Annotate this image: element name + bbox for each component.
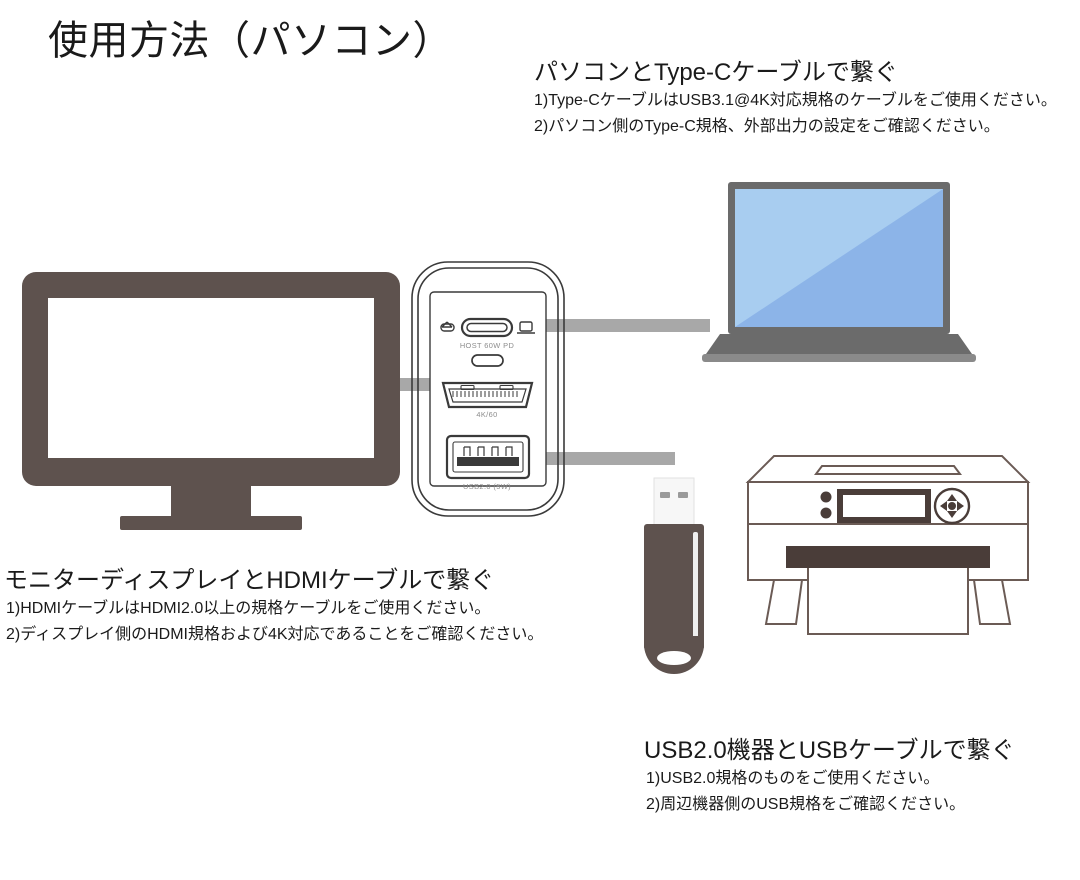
instruction-line-usb-1: 1)USB2.0規格のものをご使用ください。 [644, 766, 1015, 792]
laptop-illustration [700, 178, 1018, 370]
instruction-block-hdmi: モニターディスプレイとHDMIケーブルで繋ぐ 1)HDMIケーブルはHDMI2.… [4, 566, 543, 649]
instruction-line-hdmi-1: 1)HDMIケーブルはHDMI2.0以上の規格ケーブルをご使用ください。 [4, 596, 543, 622]
instruction-block-usb: USB2.0機器とUSBケーブルで繋ぐ 1)USB2.0規格のものをご使用くださ… [644, 736, 1015, 819]
usb-hub-device-illustration: HOST 60W PD 4K/60 [408, 258, 568, 520]
usb-flash-drive-illustration [636, 476, 712, 672]
instruction-heading-typec: パソコンとType-Cケーブルで繋ぐ [534, 58, 1057, 88]
instruction-heading-usb: USB2.0機器とUSBケーブルで繋ぐ [644, 736, 1015, 766]
printer-dpad-icon [935, 489, 969, 523]
illustration-canvas: 使用方法（パソコン） [0, 0, 1080, 880]
hub-label-hdmi: 4K/60 [476, 410, 497, 419]
instruction-line-typec-1: 1)Type-CケーブルはUSB3.1@4K対応規格のケーブルをご使用ください。 [534, 88, 1057, 114]
monitor-display-illustration [22, 268, 400, 530]
hub-label-typec-host: HOST 60W PD [460, 341, 514, 350]
printer-illustration [744, 452, 1032, 634]
instruction-heading-hdmi: モニターディスプレイとHDMIケーブルで繋ぐ [4, 566, 543, 596]
instruction-line-typec-2: 2)パソコン側のType-C規格、外部出力の設定をご確認ください。 [534, 114, 1057, 140]
instruction-block-typec: パソコンとType-Cケーブルで繋ぐ 1)Type-CケーブルはUSB3.1@4… [534, 58, 1057, 141]
hub-port-usb-a [447, 436, 529, 478]
instruction-line-usb-2: 2)周辺機器側のUSB規格をご確認ください。 [644, 792, 1015, 818]
hub-label-usb-a: USB2.0 (5W) [463, 482, 511, 491]
page-title: 使用方法（パソコン） [48, 8, 453, 66]
instruction-line-hdmi-2: 2)ディスプレイ側のHDMI規格および4K対応であることをご確認ください。 [4, 622, 543, 648]
